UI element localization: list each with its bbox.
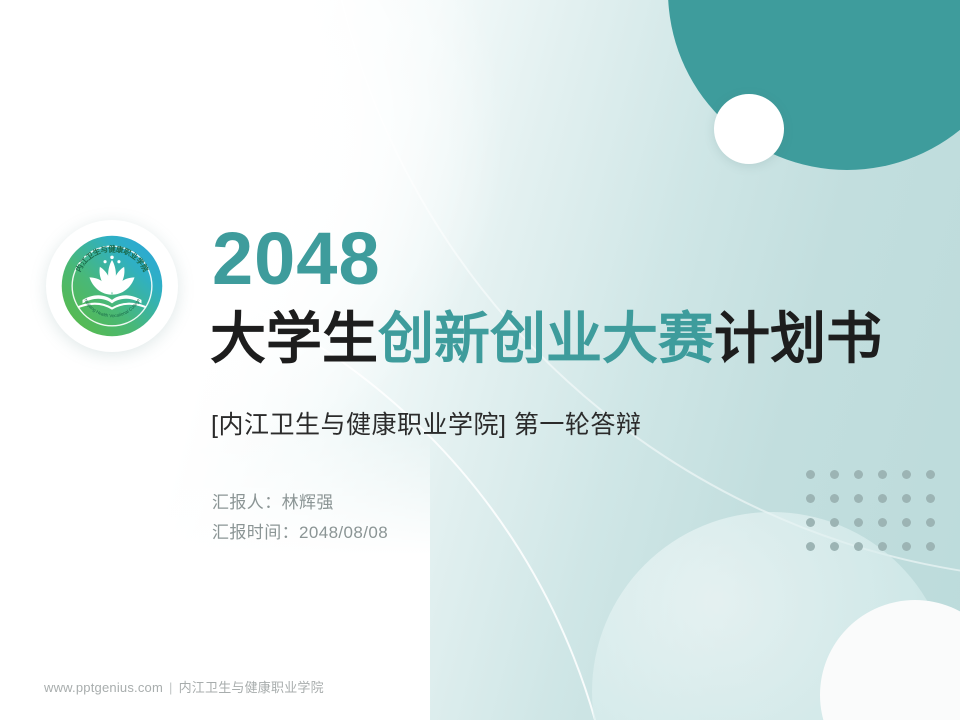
presenter-meta: 汇报人：林辉强 汇报时间：2048/08/08 bbox=[212, 488, 388, 548]
presentation-date-line: 汇报时间：2048/08/08 bbox=[212, 518, 388, 548]
decorative-dot-grid bbox=[806, 470, 950, 566]
decorative-circle-white-small bbox=[714, 94, 784, 164]
title-part-dark-trailing: 计划书 bbox=[714, 307, 882, 370]
presentation-slide: 内江卫生与健康职业学院 Neijiang Health Vocational C… bbox=[0, 0, 960, 720]
subtitle: [内江卫生与健康职业学院] 第一轮答辩 bbox=[211, 405, 641, 441]
footer-organization: 内江卫生与健康职业学院 bbox=[179, 680, 324, 695]
page-title: 大学生创新创业大赛计划书 bbox=[210, 308, 882, 371]
title-part-accent: 创新创业大赛 bbox=[378, 307, 714, 370]
year-heading: 2048 bbox=[212, 222, 381, 296]
title-part-dark-leading: 大学生 bbox=[210, 307, 378, 370]
footer-separator: | bbox=[169, 680, 173, 695]
footer-site-url[interactable]: www.pptgenius.com bbox=[44, 680, 163, 695]
footer: www.pptgenius.com|内江卫生与健康职业学院 bbox=[44, 677, 324, 696]
college-emblem-icon: 内江卫生与健康职业学院 Neijiang Health Vocational C… bbox=[60, 234, 164, 338]
presenter-name-line: 汇报人：林辉强 bbox=[212, 488, 388, 518]
college-logo-badge: 内江卫生与健康职业学院 Neijiang Health Vocational C… bbox=[46, 220, 178, 352]
background-white-bottom-left bbox=[0, 420, 430, 720]
